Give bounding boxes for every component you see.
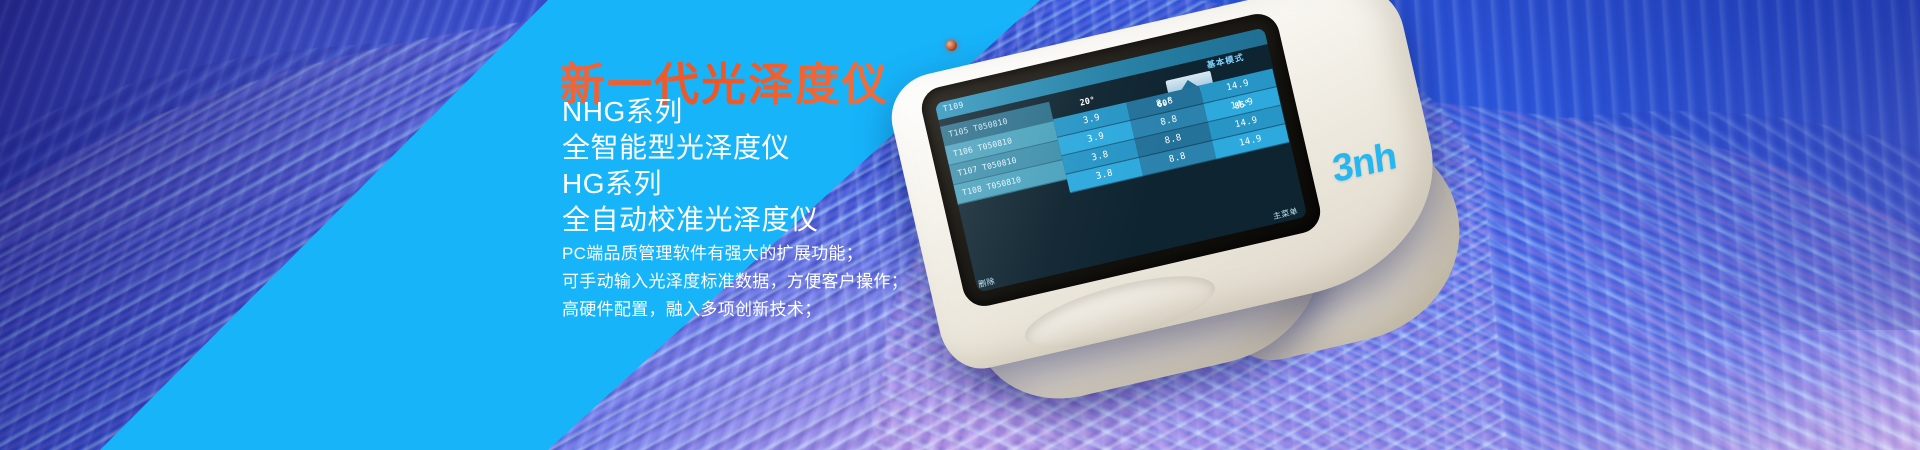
power-led-icon: [945, 39, 958, 52]
promo-banner: 新一代光泽度仪 NHG系列 全智能型光泽度仪 HG系列 全自动校准光泽度仪 PC…: [0, 0, 1920, 450]
subline-4: 全自动校准光泽度仪: [562, 202, 819, 238]
subline-list: NHG系列 全智能型光泽度仪 HG系列 全自动校准光泽度仪: [562, 94, 819, 238]
gloss-meter-device: T109 基本模式 10:51 2019-05-08 T105 T050810 …: [880, 14, 1520, 374]
feature-line-3: 高硬件配置，融入多项创新技术；: [562, 296, 908, 324]
sample-list[interactable]: T105 T050810 T106 T050810 T107 T050810 T…: [940, 102, 1067, 205]
subline-1: NHG系列: [562, 94, 819, 130]
feature-line-1: PC端品质管理软件有强大的扩展功能；: [562, 240, 908, 268]
delete-button[interactable]: 删除: [977, 276, 996, 291]
feature-line-2: 可手动输入光泽度标准数据，方便客户操作；: [562, 268, 908, 296]
subline-3: HG系列: [562, 166, 819, 202]
subline-2: 全智能型光泽度仪: [562, 130, 819, 166]
feature-list: PC端品质管理软件有强大的扩展功能； 可手动输入光泽度标准数据，方便客户操作； …: [562, 240, 908, 324]
